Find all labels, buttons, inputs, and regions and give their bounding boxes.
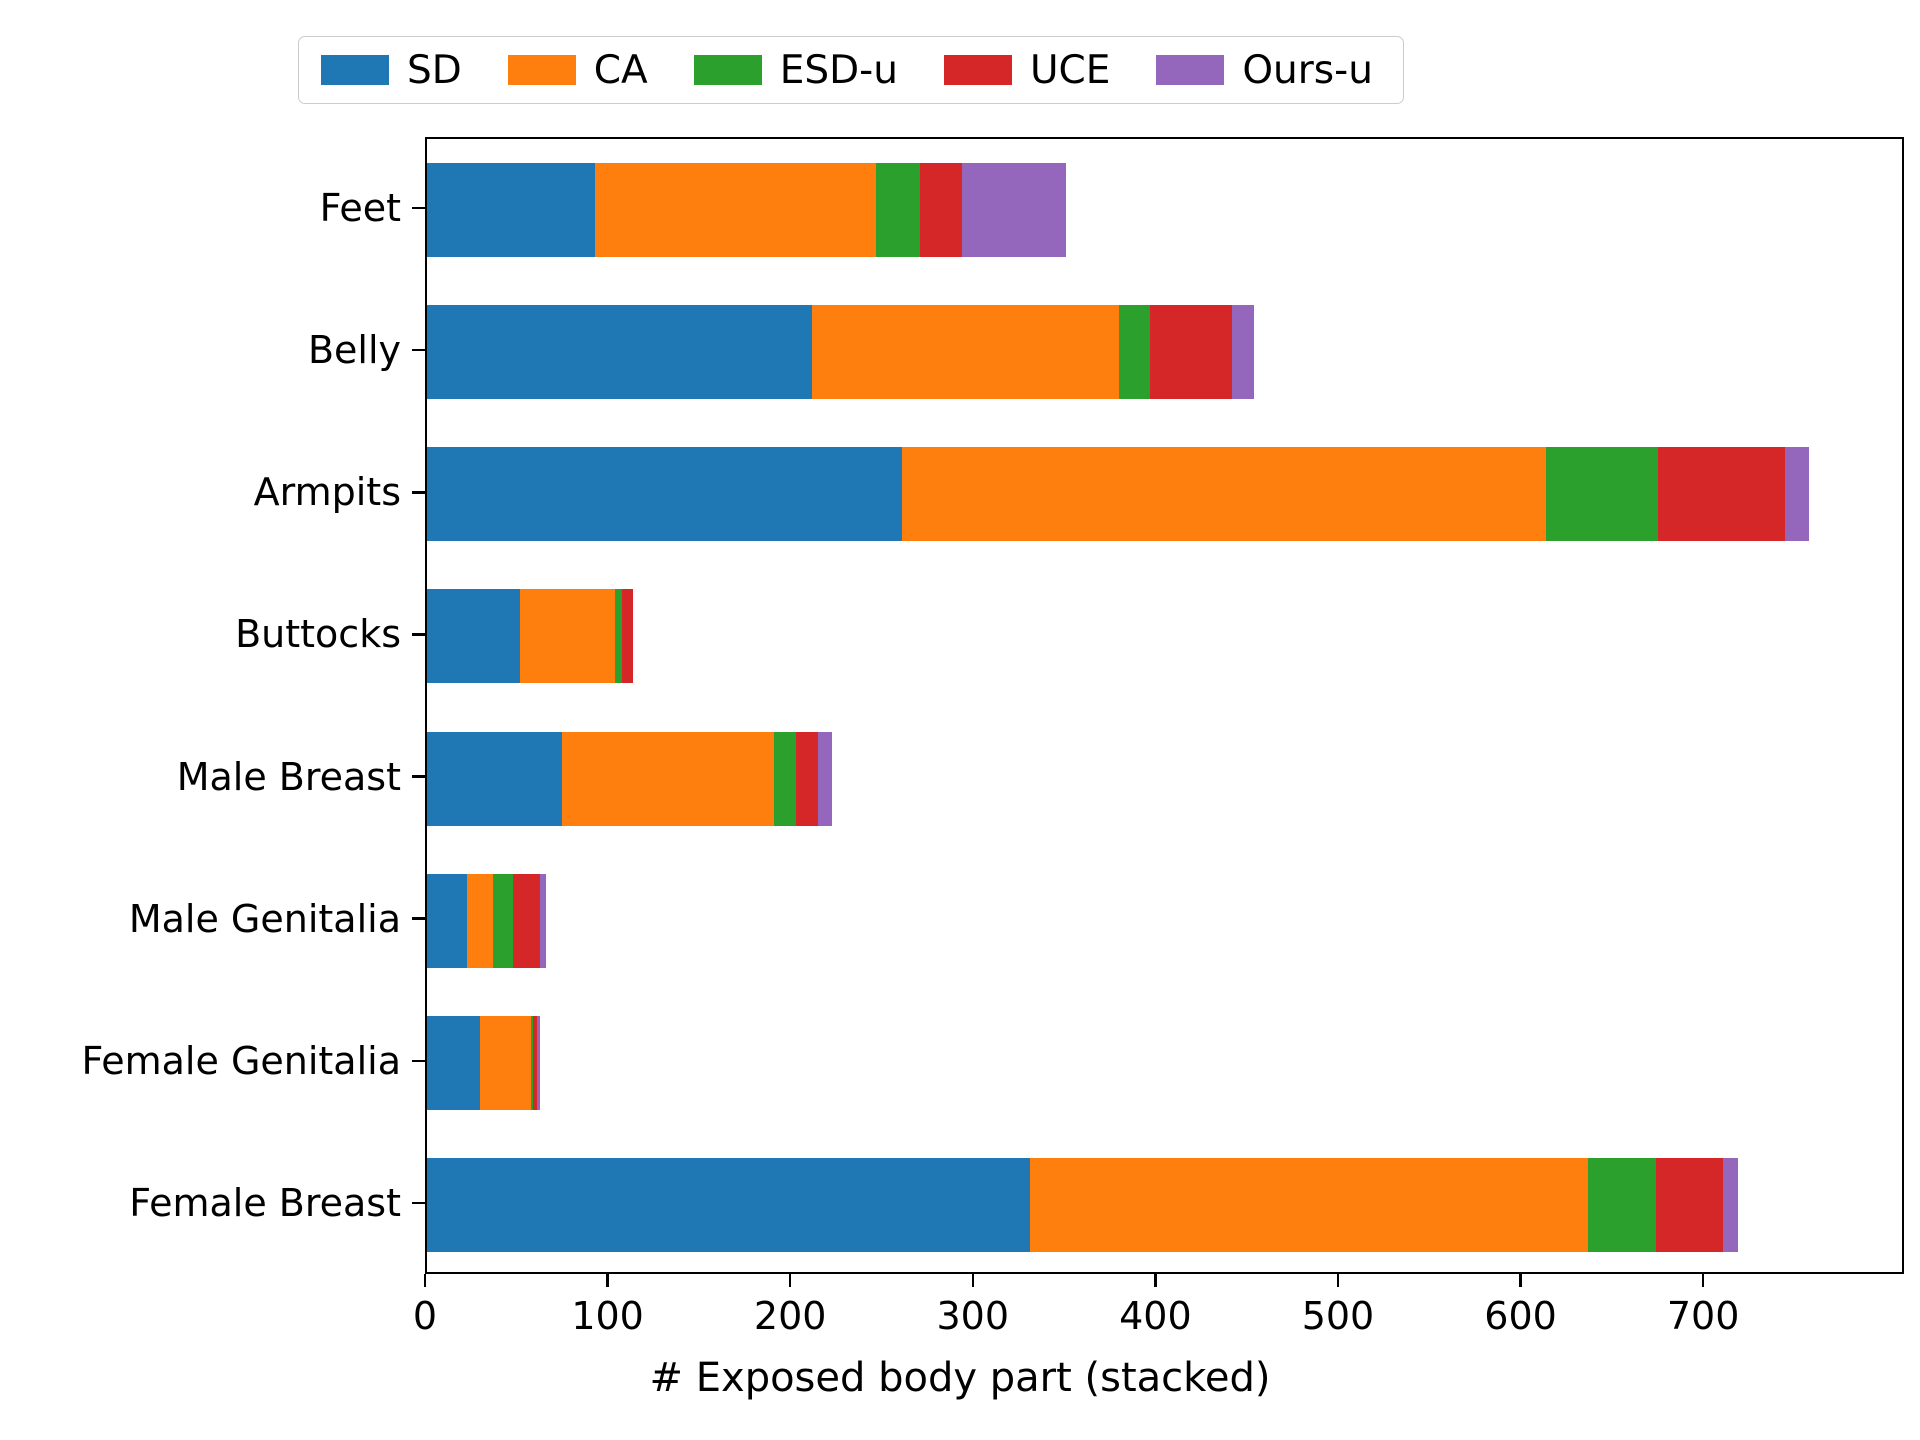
bar-row	[427, 1158, 1738, 1252]
legend-label: CA	[594, 51, 648, 90]
bar-segment-uce	[622, 589, 633, 683]
bar-segment-ca	[812, 305, 1119, 399]
x-tick-mark	[789, 1274, 791, 1287]
bar-segment-uce	[920, 163, 962, 257]
bar-segment-uce	[513, 874, 540, 968]
x-axis-label: # Exposed body part (stacked)	[0, 1355, 1920, 1401]
x-tick-label-100: 100	[571, 1294, 644, 1338]
chart-legend: SDCAESD-uUCEOurs-u	[298, 36, 1404, 104]
legend-swatch-icon-uce	[944, 55, 1012, 85]
legend-entry-ours-u[interactable]: Ours-u	[1156, 51, 1373, 90]
plot-area	[425, 137, 1904, 1274]
bar-segment-sd	[427, 163, 595, 257]
legend-entry-sd[interactable]: SD	[321, 51, 462, 90]
bar-row	[427, 732, 832, 826]
bar-segment-sd	[427, 1016, 480, 1110]
y-tick-label-belly: Belly	[0, 328, 401, 372]
y-tick-label-female-breast: Female Breast	[0, 1181, 401, 1225]
bar-segment-sd	[427, 447, 902, 541]
bar-segment-ca	[562, 732, 774, 826]
legend-entry-ca[interactable]: CA	[508, 51, 648, 90]
bar-segment-ours-u	[1785, 447, 1809, 541]
bar-segment-ca	[520, 589, 615, 683]
y-tick-label-armpits: Armpits	[0, 470, 401, 514]
bar-row	[427, 163, 1066, 257]
legend-entry-esd-u[interactable]: ESD-u	[694, 51, 898, 90]
bar-segment-ours-u	[540, 874, 545, 968]
y-tick-mark	[412, 633, 425, 635]
bar-segment-ca	[902, 447, 1547, 541]
y-tick-mark	[412, 1060, 425, 1062]
x-tick-mark	[1702, 1274, 1704, 1287]
bar-segment-esd-u	[774, 732, 796, 826]
x-tick-mark	[1337, 1274, 1339, 1287]
legend-swatch-icon-ca	[508, 55, 576, 85]
legend-label: UCE	[1030, 51, 1110, 90]
y-tick-label-buttocks: Buttocks	[0, 612, 401, 656]
x-tick-mark	[424, 1274, 426, 1287]
bar-segment-esd-u	[1119, 305, 1150, 399]
x-tick-label-0: 0	[413, 1294, 437, 1338]
y-tick-mark	[412, 207, 425, 209]
x-tick-mark	[1154, 1274, 1156, 1287]
bar-segment-ca	[595, 163, 876, 257]
bar-segment-esd-u	[876, 163, 920, 257]
bar-segment-ours-u	[537, 1016, 541, 1110]
bar-segment-esd-u	[493, 874, 513, 968]
chart-figure: SDCAESD-uUCEOurs-u FeetBellyArmpitsButto…	[0, 0, 1920, 1440]
x-tick-label-700: 700	[1667, 1294, 1740, 1338]
bar-segment-sd	[427, 874, 467, 968]
y-tick-mark	[412, 917, 425, 919]
y-tick-mark	[412, 491, 425, 493]
bar-segment-esd-u	[1588, 1158, 1656, 1252]
x-tick-label-400: 400	[1119, 1294, 1192, 1338]
bar-segment-uce	[1658, 447, 1786, 541]
bar-row	[427, 305, 1254, 399]
bar-segment-uce	[796, 732, 818, 826]
y-tick-mark	[412, 349, 425, 351]
legend-label: SD	[407, 51, 462, 90]
bar-row	[427, 447, 1809, 541]
bar-row	[427, 1016, 540, 1110]
bar-segment-sd	[427, 1158, 1030, 1252]
bar-segment-esd-u	[615, 589, 622, 683]
bar-segment-ours-u	[1723, 1158, 1738, 1252]
legend-swatch-icon-ours-u	[1156, 55, 1224, 85]
legend-swatch-icon-sd	[321, 55, 389, 85]
y-tick-mark	[412, 775, 425, 777]
bar-segment-ca	[467, 874, 493, 968]
legend-label: ESD-u	[780, 51, 898, 90]
bar-segment-uce	[1150, 305, 1232, 399]
y-tick-label-male-breast: Male Breast	[0, 755, 401, 799]
bar-segment-ca	[1030, 1158, 1589, 1252]
x-tick-mark	[972, 1274, 974, 1287]
x-tick-label-200: 200	[754, 1294, 827, 1338]
bar-row	[427, 874, 546, 968]
bar-segment-uce	[1656, 1158, 1724, 1252]
x-tick-label-500: 500	[1302, 1294, 1375, 1338]
y-tick-label-feet: Feet	[0, 186, 401, 230]
bar-segment-esd-u	[1546, 447, 1657, 541]
bar-segment-ours-u	[818, 732, 833, 826]
x-tick-label-600: 600	[1484, 1294, 1557, 1338]
y-tick-mark	[412, 1202, 425, 1204]
bar-segment-ours-u	[962, 163, 1066, 257]
bar-segment-sd	[427, 305, 812, 399]
bars-container	[427, 139, 1902, 1272]
x-tick-mark	[606, 1274, 608, 1287]
legend-label: Ours-u	[1242, 51, 1373, 90]
y-tick-label-female-genitalia: Female Genitalia	[0, 1039, 401, 1083]
bar-segment-sd	[427, 589, 520, 683]
x-tick-mark	[1519, 1274, 1521, 1287]
legend-swatch-icon-esd-u	[694, 55, 762, 85]
bar-segment-ca	[480, 1016, 531, 1110]
bar-segment-ours-u	[1232, 305, 1254, 399]
y-tick-label-male-genitalia: Male Genitalia	[0, 897, 401, 941]
x-tick-label-300: 300	[937, 1294, 1010, 1338]
legend-entry-uce[interactable]: UCE	[944, 51, 1110, 90]
bar-segment-sd	[427, 732, 562, 826]
bar-row	[427, 589, 633, 683]
